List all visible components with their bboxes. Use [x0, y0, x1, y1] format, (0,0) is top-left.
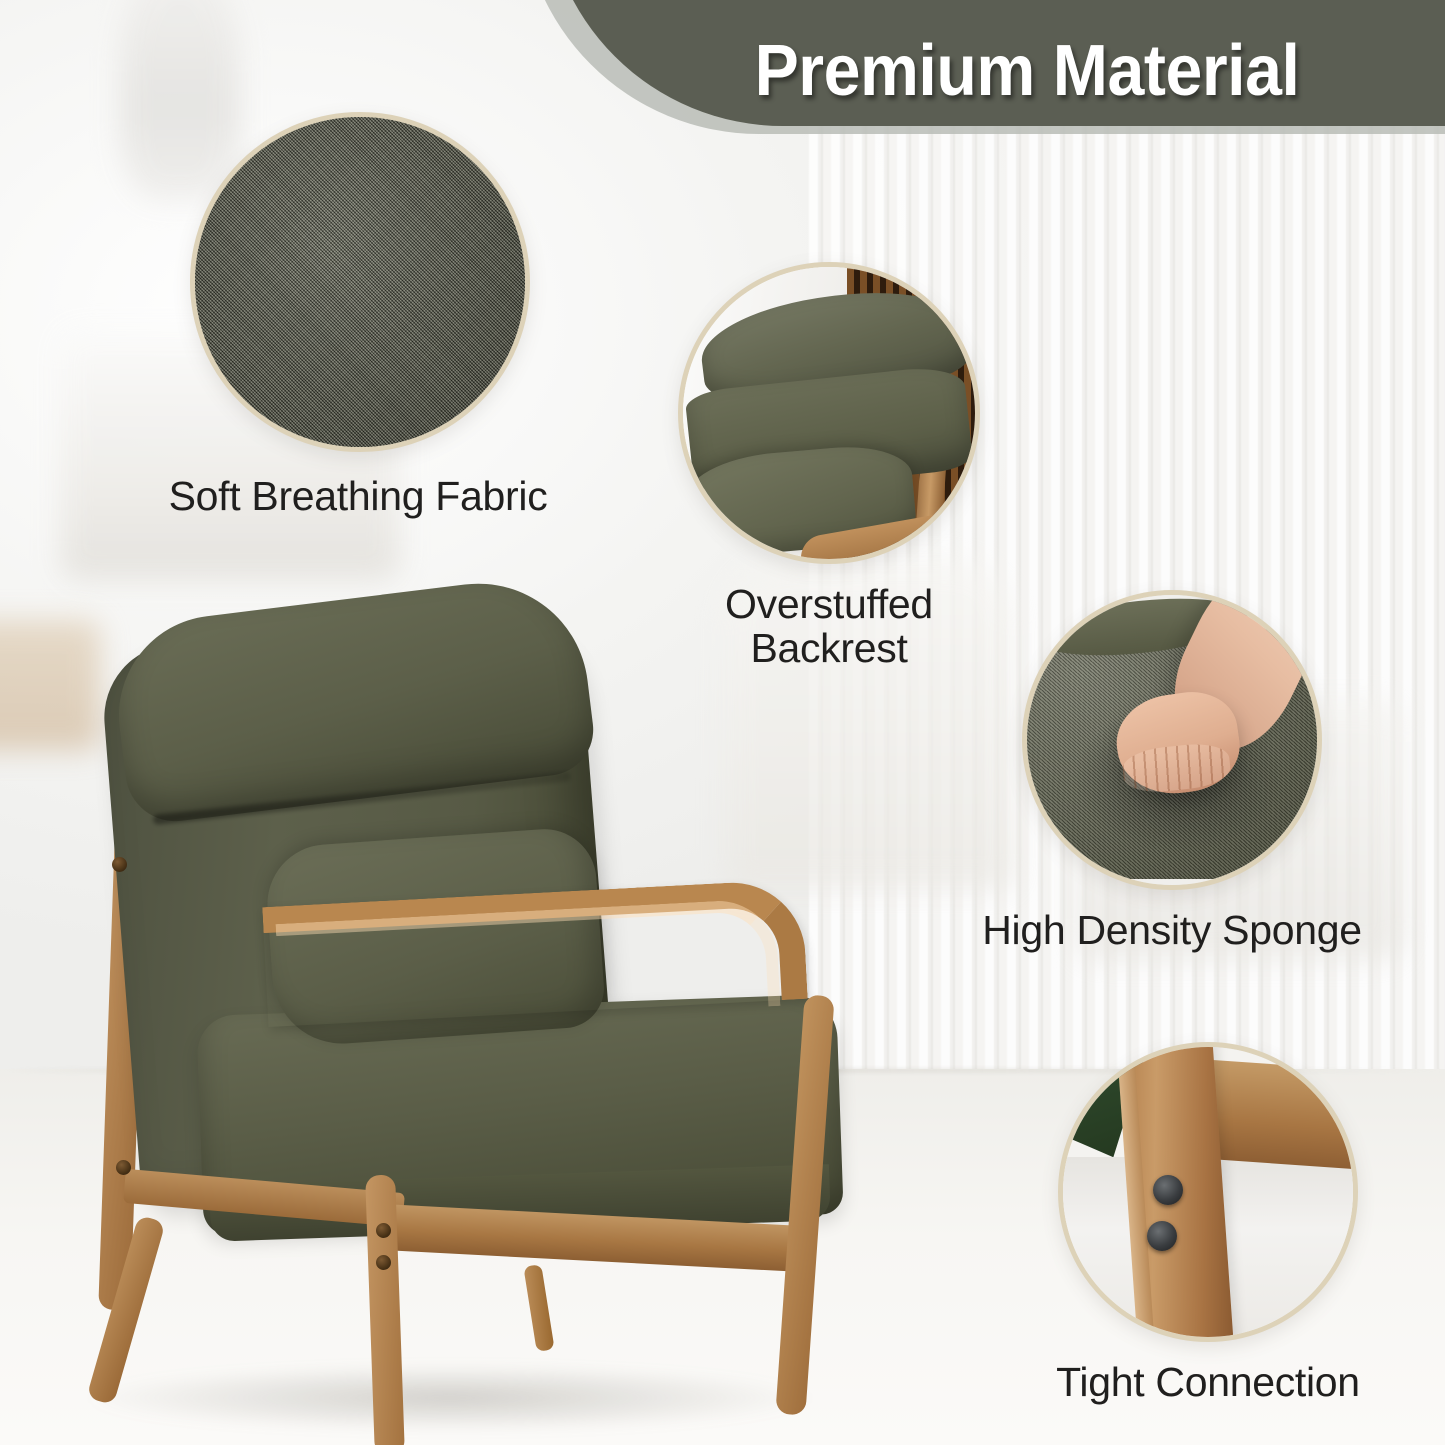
chair-frame-bolt [376, 1255, 391, 1270]
scene-bolt-upper [1153, 1175, 1183, 1205]
joint-closeup-circle [1058, 1042, 1358, 1342]
scene-bolt-lower [1147, 1221, 1177, 1251]
chair-floor-shadow [90, 1365, 810, 1431]
callout-soft-breathing-fabric: Soft Breathing Fabric [190, 112, 638, 518]
fabric-swatch-circle [190, 112, 530, 452]
chair-cross-brace [523, 1264, 554, 1352]
callout-label-overstuffed-backrest: Overstuffed Backrest [629, 582, 1029, 671]
callout-label-soft-breathing-fabric: Soft Breathing Fabric [78, 474, 638, 518]
woven-fabric-texture [195, 117, 525, 447]
backrest-closeup-scene [683, 267, 975, 559]
main-product-armchair [60, 575, 890, 1405]
callout-tight-connection: Tight Connection [1058, 1042, 1428, 1404]
callout-overstuffed-backrest: Overstuffed Backrest [678, 262, 1029, 671]
banner-title: Premium Material [755, 30, 1320, 112]
callout-label-tight-connection: Tight Connection [988, 1360, 1428, 1404]
callout-label-high-density-sponge: High Density Sponge [922, 908, 1422, 952]
sponge-press-scene [1027, 595, 1317, 885]
leg-joint-scene [1063, 1047, 1353, 1337]
callout-high-density-sponge: High Density Sponge [1022, 590, 1422, 952]
chair-frame-bolt [116, 1160, 131, 1175]
backrest-closeup-circle [678, 262, 980, 564]
sponge-closeup-circle [1022, 590, 1322, 890]
chair-frame-bolt [112, 857, 127, 872]
product-infographic-poster: Premium Material Soft Breathing Fabric [0, 0, 1445, 1445]
chair-frame-bolt [376, 1223, 391, 1238]
